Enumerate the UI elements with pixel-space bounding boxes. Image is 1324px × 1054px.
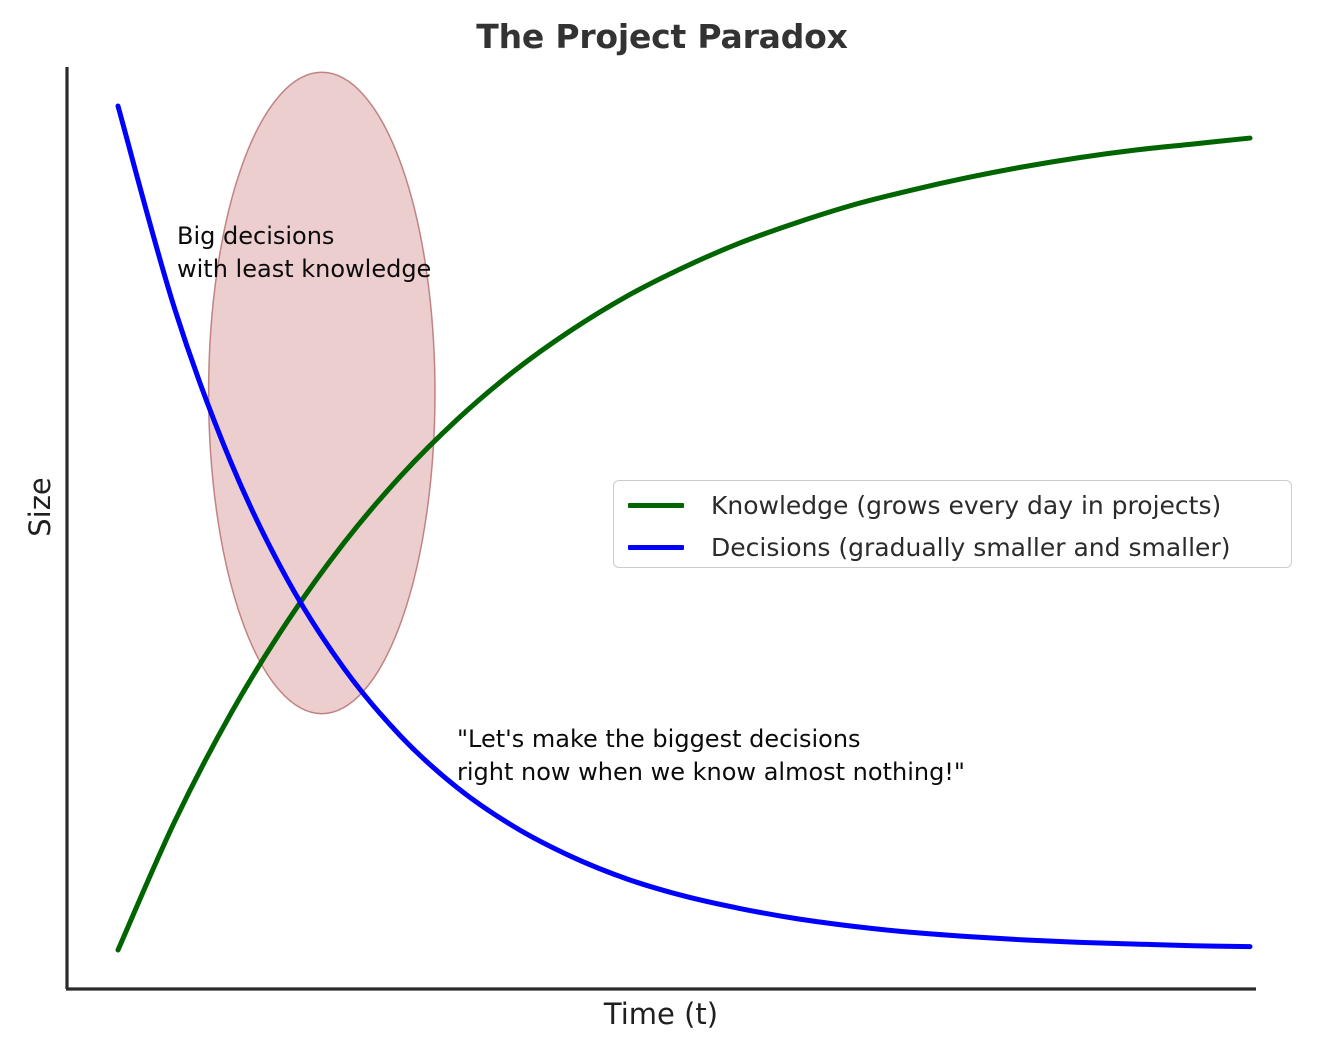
legend: Knowledge (grows every day in projects) … [613,480,1292,568]
legend-label-decisions: Decisions (gradually smaller and smaller… [711,533,1230,562]
legend-label-knowledge: Knowledge (grows every day in projects) [711,491,1221,520]
legend-swatch-decisions [628,545,684,550]
annotation-quote: "Let's make the biggest decisions right … [457,723,965,789]
legend-swatch-knowledge [628,503,684,508]
chart-figure: The Project Paradox Size Time (t) Big de… [0,0,1324,1054]
legend-item-decisions[interactable]: Decisions (gradually smaller and smaller… [628,525,1230,569]
highlight-ellipse [209,72,435,713]
legend-item-knowledge[interactable]: Knowledge (grows every day in projects) [628,483,1221,527]
annotation-big-decisions: Big decisions with least knowledge [177,220,431,286]
x-axis-label: Time (t) [66,997,1256,1031]
y-axis-label: Size [23,457,57,557]
